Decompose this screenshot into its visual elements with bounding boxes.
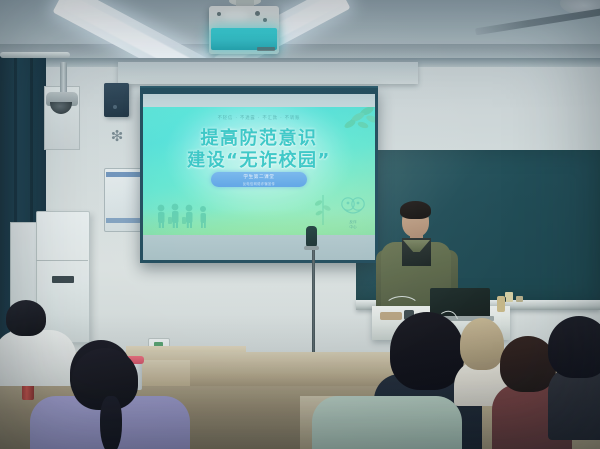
chalk-piece [516, 296, 523, 302]
wall-decoration-icon: ❇ [108, 130, 126, 144]
chalk-piece [505, 292, 513, 302]
camera-arm [60, 62, 67, 96]
presentation-slide: 不轻信 · 不透露 · 不汇款 · 不转账 提高防范意识 建设“无诈校园” 学生… [143, 107, 375, 235]
cabinet-handle[interactable] [52, 276, 74, 283]
student-mint-sweater [312, 392, 462, 449]
curtain-rod [0, 52, 70, 58]
screen-soffit [118, 62, 418, 84]
microphone-clip [304, 246, 319, 250]
student-front-left-purple [30, 362, 190, 449]
screen-blank-bottom [143, 235, 375, 260]
ceiling-projector [209, 6, 279, 54]
screen-blank-top [143, 94, 375, 107]
classroom-photo: ❇ 不轻信 · 不透露 · 不汇款 · 不转账 提高防范意识 [0, 0, 600, 449]
projection-screen: 不轻信 · 不透露 · 不汇款 · 不转账 提高防范意识 建设“无诈校园” 学生… [143, 94, 375, 260]
microphone-icon [306, 226, 317, 248]
wall-speaker-icon [104, 83, 129, 117]
presenter-hair [400, 201, 431, 219]
microphone-stand [312, 240, 315, 358]
podium-bottle [497, 296, 505, 312]
student-right-dark [548, 316, 600, 426]
